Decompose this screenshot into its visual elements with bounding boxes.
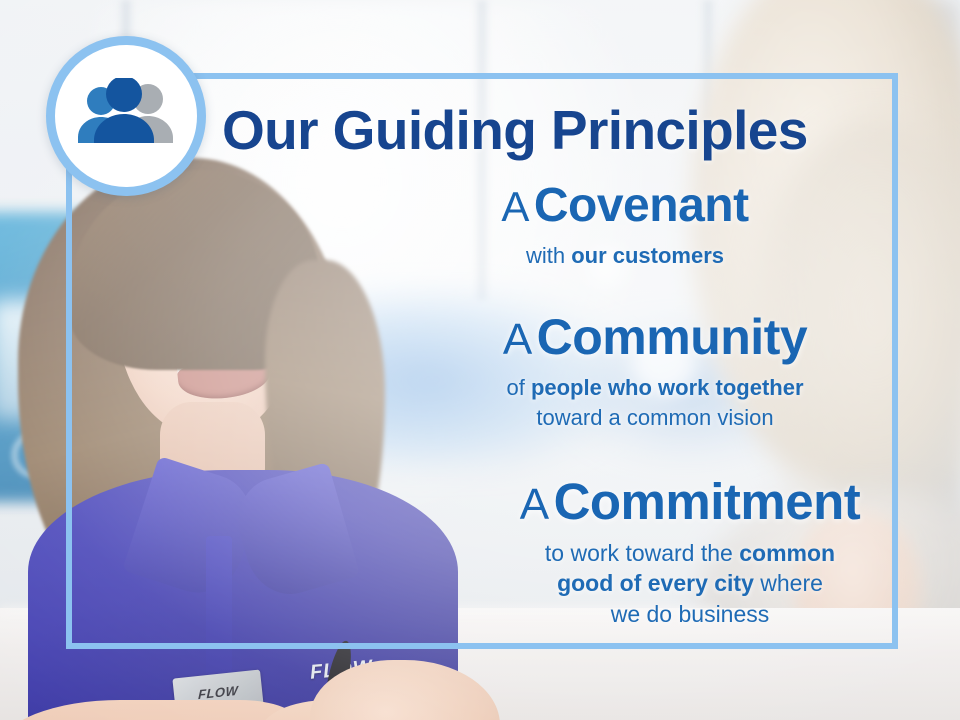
principle-article: A (520, 480, 549, 529)
principle-subtext-line: toward a common vision (430, 403, 880, 432)
page-title: Our Guiding Principles (222, 98, 808, 162)
principle-subtext-line: we do business (500, 599, 880, 630)
principle-commitment: A Commitment to work toward the commongo… (500, 476, 880, 630)
principle-word: Community (537, 309, 808, 365)
people-group-icon (74, 78, 178, 154)
principle-word: Commitment (554, 473, 861, 530)
principle-word: Covenant (534, 179, 749, 232)
principle-subtext-line: of people who work together (430, 373, 880, 402)
principle-heading: A Commitment (500, 476, 880, 527)
principles-list: A Covenant with our customers A Communit… (260, 182, 880, 629)
principle-subtext-line: good of every city where (500, 568, 880, 599)
principle-article: A (503, 315, 532, 364)
principle-article: A (501, 183, 529, 230)
principle-heading: A Community (430, 312, 880, 362)
principle-subtext: to work toward the commongood of every c… (500, 538, 880, 630)
principle-community: A Community of people who work togethert… (430, 312, 880, 432)
principle-subtext: with our customers (370, 241, 880, 270)
people-badge (46, 36, 206, 196)
principle-covenant: A Covenant with our customers (370, 182, 880, 270)
principle-subtext-line: with our customers (370, 241, 880, 270)
principle-heading: A Covenant (370, 182, 880, 230)
principle-subtext: of people who work togethertoward a comm… (430, 373, 880, 432)
principle-subtext-line: to work toward the common (500, 538, 880, 569)
